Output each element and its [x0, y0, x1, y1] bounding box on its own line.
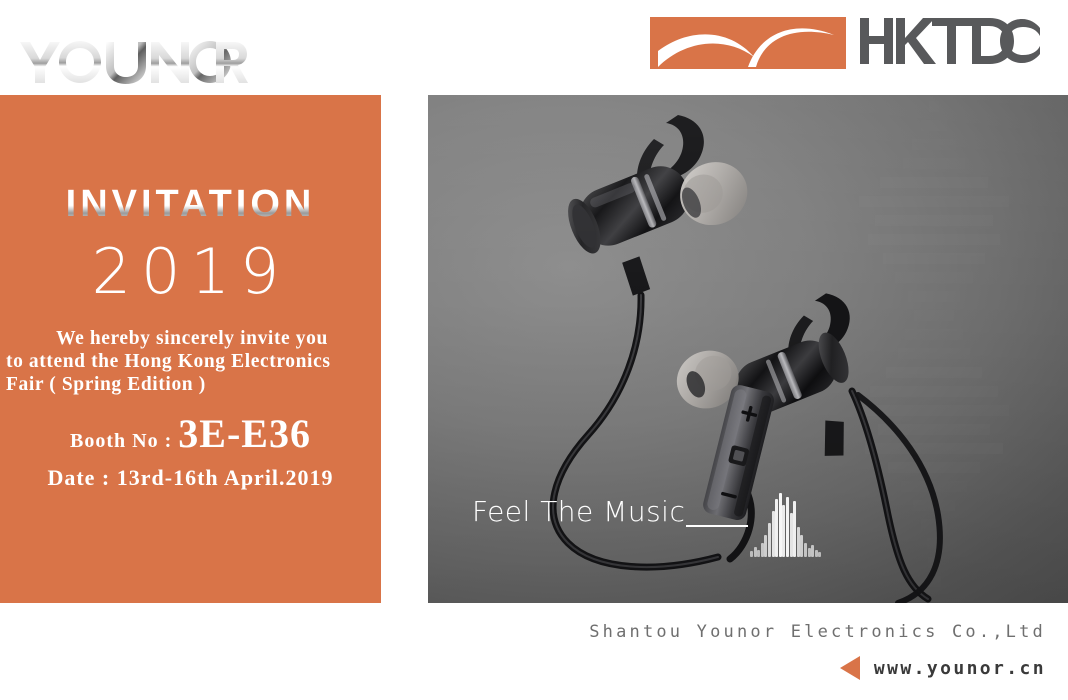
younor-logo — [18, 36, 248, 88]
poster-canvas: INVITATION 2019 We hereby sincerely invi… — [0, 0, 1068, 700]
invitation-body: We hereby sincerely invite you to attend… — [6, 327, 378, 396]
invitation-panel: INVITATION 2019 We hereby sincerely invi… — [0, 95, 381, 603]
website-url[interactable]: www.younor.cn — [874, 658, 1046, 679]
sound-wave-icon — [750, 493, 822, 557]
hktdc-logo — [650, 14, 1040, 72]
invitation-body-line1: We hereby sincerely invite you — [6, 327, 378, 350]
left-arrow-icon — [840, 656, 860, 680]
invitation-body-line2: to attend the Hong Kong Electronics — [6, 350, 378, 373]
invitation-title: INVITATION — [0, 183, 381, 226]
hktdc-wordmark — [860, 16, 1040, 71]
hktdc-wings-mark — [650, 17, 846, 69]
website-row[interactable]: www.younor.cn — [840, 656, 1046, 680]
booth-label: Booth No : — [70, 430, 172, 452]
product-photo: Feel The Music — [428, 95, 1068, 603]
booth-number: 3E-E36 — [178, 411, 311, 456]
invitation-year: 2019 — [0, 235, 381, 308]
invitation-body-line3: Fair ( Spring Edition ) — [6, 373, 378, 396]
booth-row: Booth No :3E-E36 — [0, 410, 381, 457]
tagline-dash — [686, 525, 748, 527]
event-date: Date : 13rd-16th April.2019 — [0, 465, 381, 491]
footer: Shantou Younor Electronics Co.,Ltd www.y… — [0, 612, 1068, 700]
product-tagline: Feel The Music — [472, 495, 685, 528]
company-name: Shantou Younor Electronics Co.,Ltd — [589, 622, 1046, 642]
